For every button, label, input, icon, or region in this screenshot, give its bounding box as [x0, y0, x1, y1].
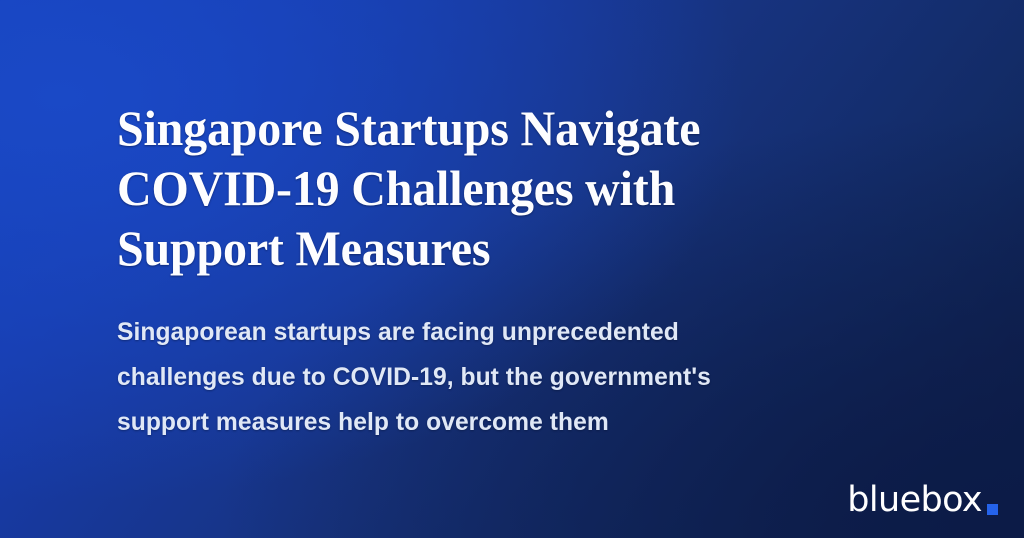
page-subtitle: Singaporean startups are facing unpreced… [117, 310, 836, 445]
page-title: Singapore Startups Navigate COVID-19 Cha… [117, 98, 847, 278]
headline-line-3: Support Measures [117, 218, 847, 278]
headline-line-1: Singapore Startups Navigate [117, 98, 847, 158]
subtitle-line-1: Singaporean startups are facing unpreced… [117, 310, 836, 355]
brand-name: bluebox [847, 483, 982, 518]
square-dot-icon [987, 504, 998, 515]
brand-logo: bluebox [847, 483, 998, 518]
subtitle-line-2: challenges due to COVID-19, but the gove… [117, 355, 836, 400]
headline-line-2: COVID-19 Challenges with [117, 158, 847, 218]
article-hero-card: Singapore Startups Navigate COVID-19 Cha… [0, 0, 1024, 538]
subtitle-line-3: support measures help to overcome them [117, 400, 836, 445]
